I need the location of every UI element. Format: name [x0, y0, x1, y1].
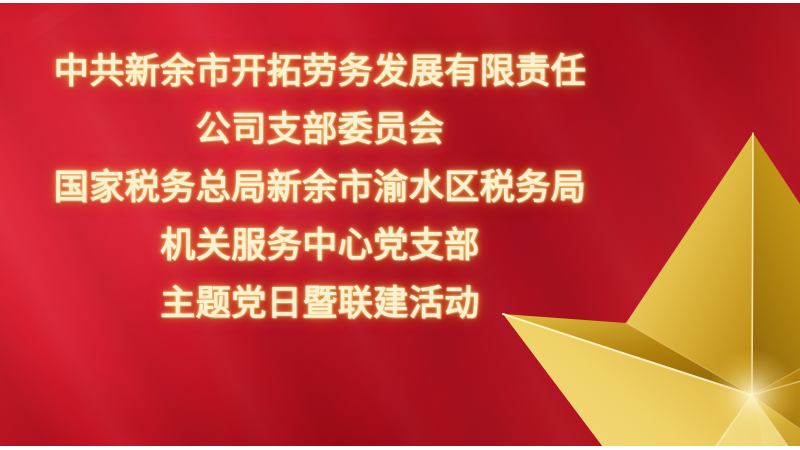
headline-line-3: 国家税务总局新余市渝水区税务局: [0, 159, 640, 217]
headline-block: 中共新余市开拓劳务发展有限责任 公司支部委员会 国家税务总局新余市渝水区税务局 …: [0, 43, 640, 333]
headline-line-4: 机关服务中心党支部: [0, 217, 640, 275]
banner-stage: 中共新余市开拓劳务发展有限责任 公司支部委员会 国家税务总局新余市渝水区税务局 …: [0, 3, 800, 446]
banner-root: 中共新余市开拓劳务发展有限责任 公司支部委员会 国家税务总局新余市渝水区税务局 …: [0, 0, 800, 450]
headline-line-1: 中共新余市开拓劳务发展有限责任: [0, 43, 640, 101]
headline-line-2: 公司支部委员会: [0, 101, 640, 159]
headline-line-5: 主题党日暨联建活动: [0, 275, 640, 333]
